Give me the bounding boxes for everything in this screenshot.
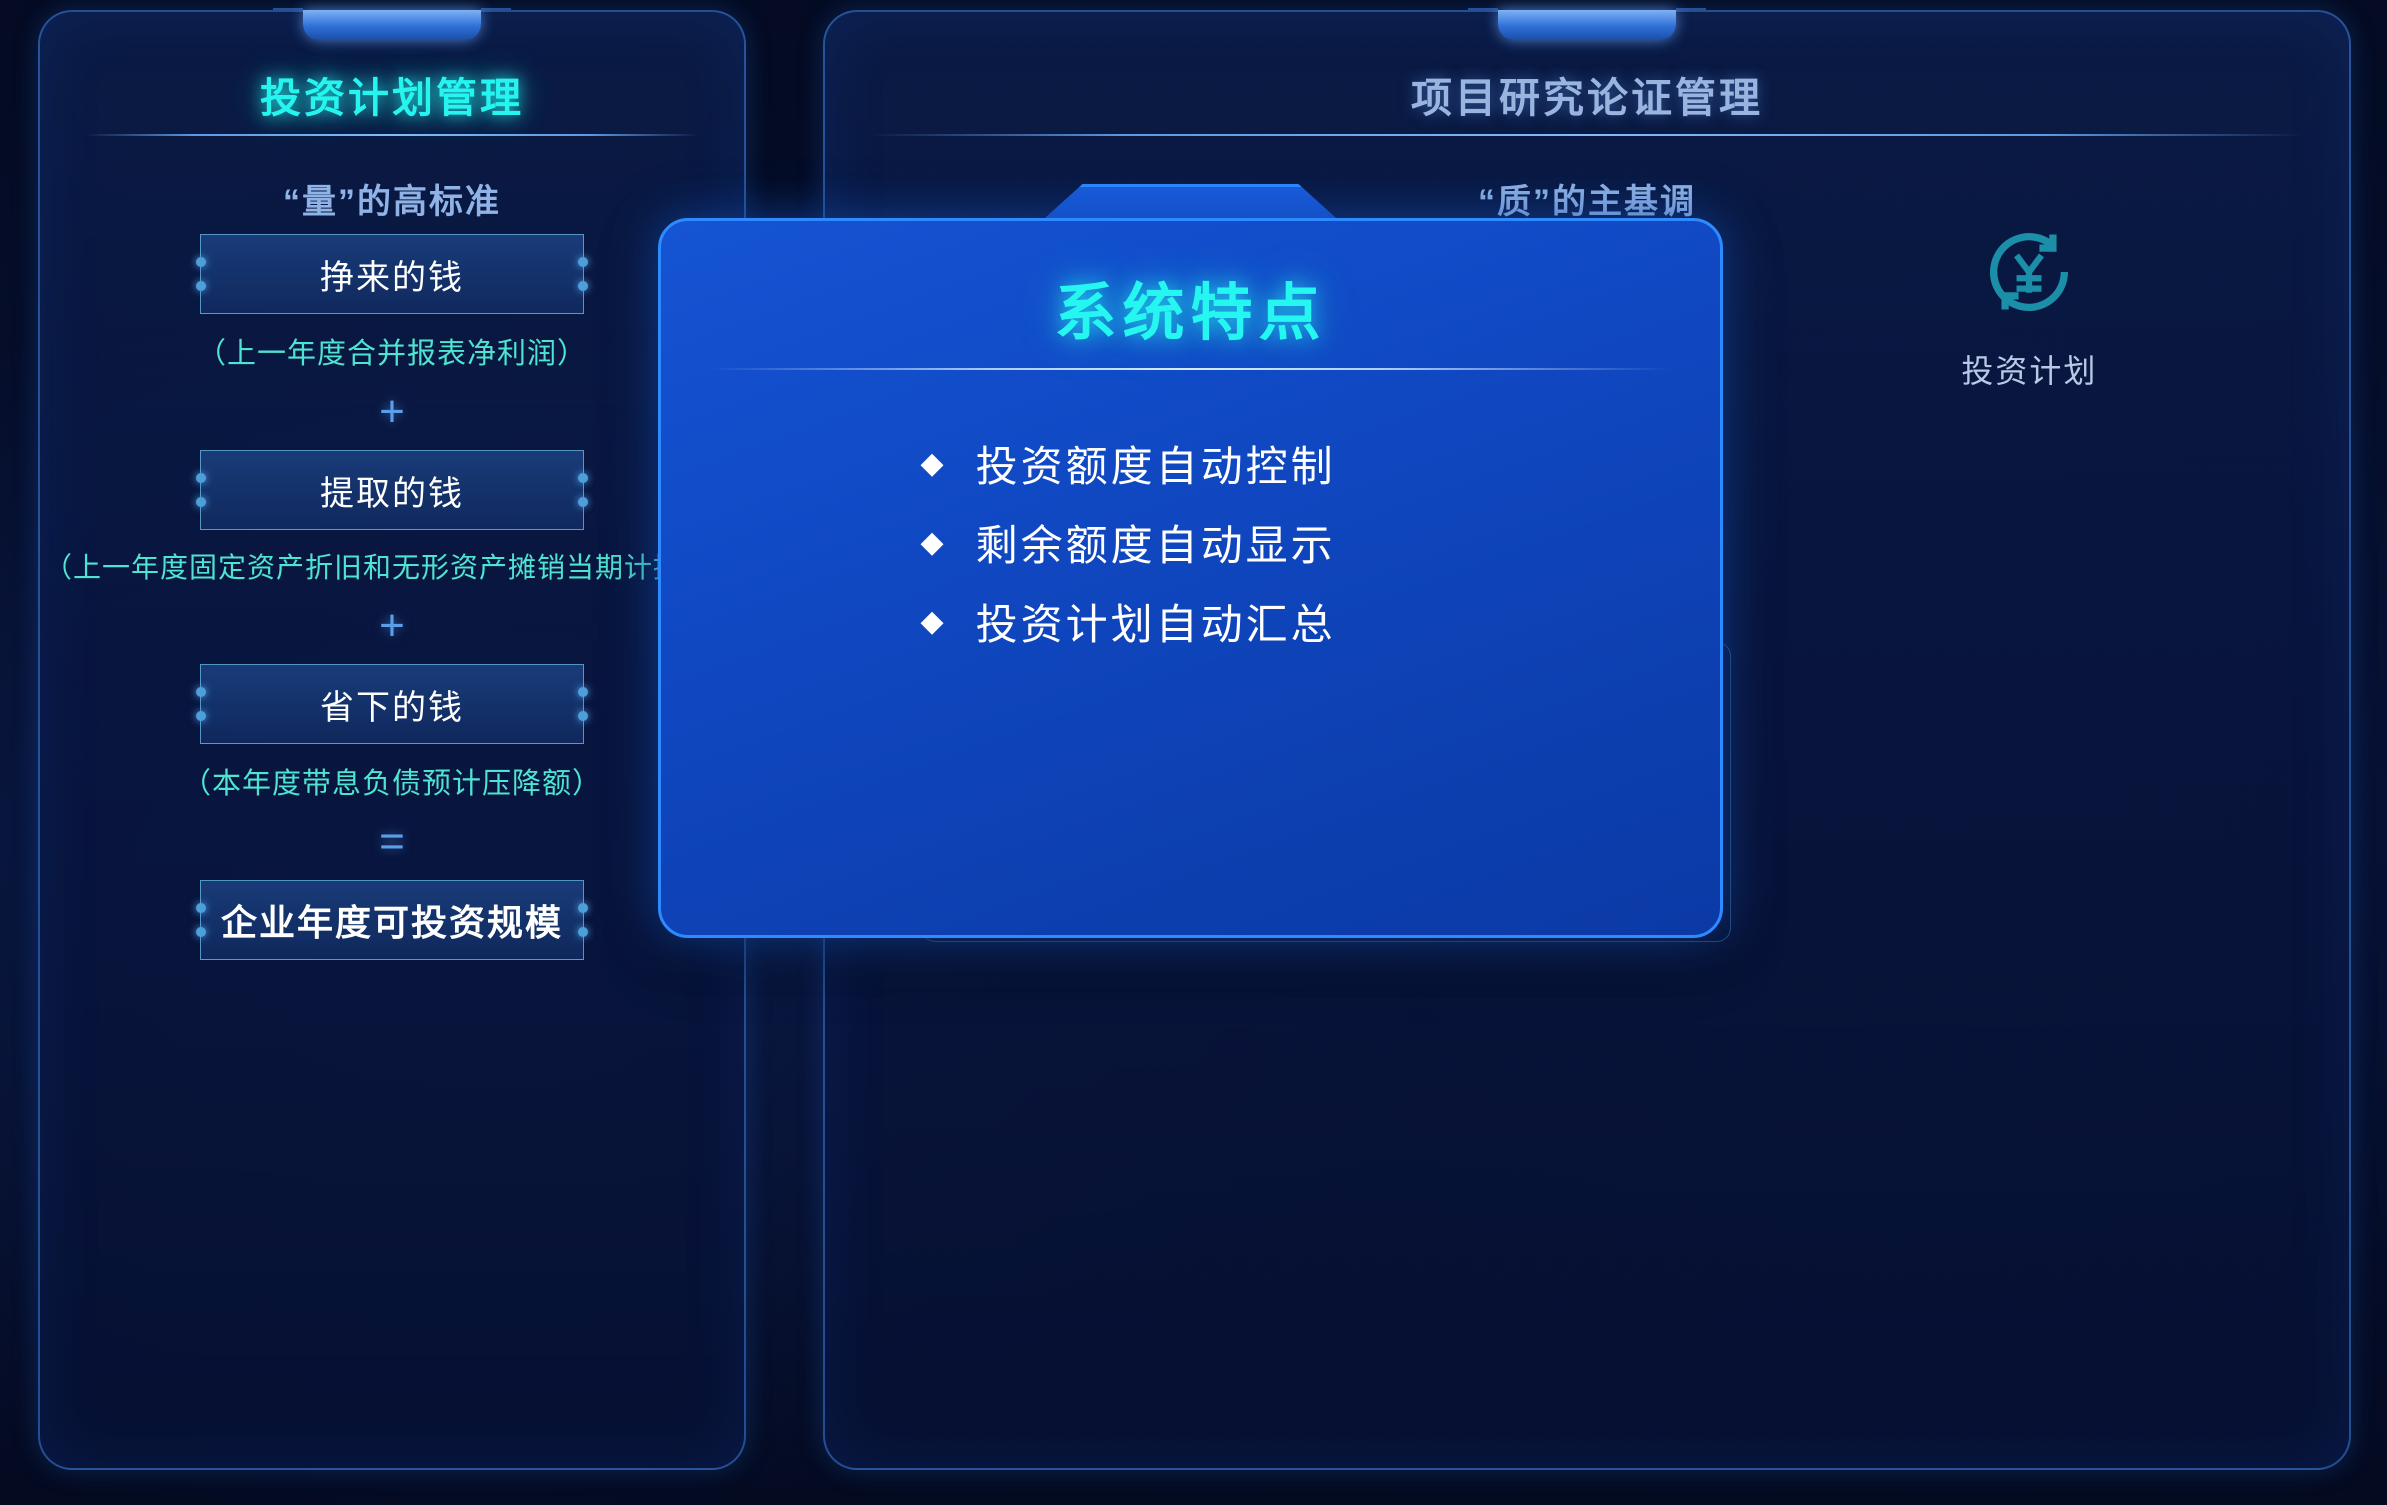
- feature-item-label: 投资计划自动汇总: [976, 591, 1336, 652]
- page-title-right: 项目研究论证管理: [825, 64, 2349, 124]
- connector-dot: [196, 927, 206, 937]
- system-features-divider: [710, 368, 1671, 370]
- flow-operator-plus-1: +: [40, 390, 744, 434]
- connector-dot: [578, 927, 588, 937]
- flow-box-label: 省下的钱: [320, 680, 464, 729]
- connector-dot: [578, 257, 588, 267]
- panel-tab-handle: [303, 10, 481, 40]
- feature-item-plan-auto-summary[interactable]: ◆ 投资计划自动汇总: [921, 591, 1461, 652]
- system-features-title: 系统特点: [658, 262, 1723, 352]
- diamond-bullet-icon: ◆: [921, 607, 944, 637]
- module-item-investment-plan[interactable]: 投资计划: [1808, 220, 2251, 392]
- flow-operator-equals: =: [40, 820, 744, 864]
- connector-dot: [196, 281, 206, 291]
- flow-box-label: 挣来的钱: [320, 250, 464, 299]
- flow-note-extracted: （上一年度固定资产折旧和无形资产摊销当期计提额）: [40, 546, 744, 586]
- yen-refresh-icon: [1977, 220, 2081, 324]
- connector-dot: [578, 687, 588, 697]
- feature-item-auto-quota-control[interactable]: ◆ 投资额度自动控制: [921, 433, 1461, 494]
- connector-dot: [196, 687, 206, 697]
- panel-tab-handle: [1498, 10, 1676, 40]
- page-title-left: 投资计划管理: [40, 64, 744, 124]
- flow-box-label: 提取的钱: [320, 466, 464, 515]
- flow-box-extracted[interactable]: 提取的钱: [200, 450, 584, 530]
- connector-dot: [578, 711, 588, 721]
- feature-item-remaining-quota-display[interactable]: ◆ 剩余额度自动显示: [921, 512, 1461, 573]
- diamond-bullet-icon: ◆: [921, 528, 944, 558]
- flow-box-label: 企业年度可投资规模: [221, 894, 563, 946]
- connector-dot: [196, 903, 206, 913]
- diamond-bullet-icon: ◆: [921, 449, 944, 479]
- slide-canvas: 投资计划管理 “量”的高标准 挣来的钱 （上一年度合并报表净利润） + 提取的钱…: [0, 0, 2387, 1505]
- connector-dot: [196, 473, 206, 483]
- flow-operator-plus-2: +: [40, 604, 744, 648]
- connector-dot: [196, 257, 206, 267]
- flow-note-earned: （上一年度合并报表净利润）: [40, 330, 744, 372]
- feature-item-label: 投资额度自动控制: [976, 433, 1336, 494]
- folder-tab-notch: [1041, 184, 1341, 222]
- subtitle-left: “量”的高标准: [40, 174, 744, 223]
- feature-item-label: 剩余额度自动显示: [976, 512, 1336, 573]
- flow-note-saved: （本年度带息负债预计压降额）: [40, 760, 744, 802]
- connector-dot: [578, 497, 588, 507]
- connector-dot: [578, 473, 588, 483]
- module-item-label: 投资计划: [1961, 346, 2097, 392]
- connector-dot: [578, 903, 588, 913]
- system-features-list: ◆ 投资额度自动控制 ◆ 剩余额度自动显示 ◆ 投资计划自动汇总: [658, 433, 1723, 652]
- connector-dot: [196, 711, 206, 721]
- connector-dot: [578, 281, 588, 291]
- system-features-card[interactable]: 系统特点 ◆ 投资额度自动控制 ◆ 剩余额度自动显示 ◆ 投资计划自动汇总: [658, 218, 1723, 938]
- flow-box-total-scale[interactable]: 企业年度可投资规模: [200, 880, 584, 960]
- panel-investment-plan: 投资计划管理 “量”的高标准 挣来的钱 （上一年度合并报表净利润） + 提取的钱…: [38, 10, 746, 1470]
- flow-box-saved[interactable]: 省下的钱: [200, 664, 584, 744]
- flow-box-earned[interactable]: 挣来的钱: [200, 234, 584, 314]
- investment-formula-flow: 挣来的钱 （上一年度合并报表净利润） + 提取的钱 （上一年度固定资产折旧和无形…: [40, 234, 744, 960]
- connector-dot: [196, 497, 206, 507]
- title-divider-right: [869, 134, 2305, 136]
- title-divider-left: [84, 134, 700, 136]
